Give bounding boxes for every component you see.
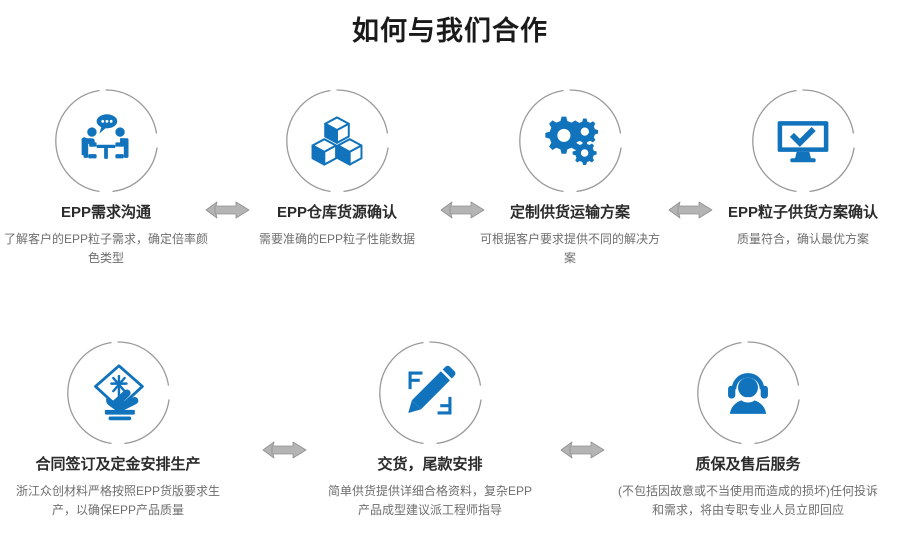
step-title: EPP仓库货源确认 — [237, 203, 437, 223]
step-4-circle — [750, 88, 856, 194]
step-description: 质量符合，确认最优方案 — [706, 230, 900, 249]
hand-contract-sign-icon — [87, 362, 149, 424]
step-title: EPP需求沟通 — [2, 203, 210, 223]
monitor-check-icon — [772, 110, 834, 172]
step-5-circle — [65, 340, 171, 446]
step-title: 质保及售后服务 — [613, 455, 883, 475]
step-description: 需要准确的EPP粒子性能数据 — [237, 230, 437, 249]
step-7-circle — [695, 340, 801, 446]
arrow-right-icon-4 — [260, 437, 310, 463]
step-description: 浙江众创材料严格按照EPP货版要求生产，以确保EPP产品质量 — [15, 482, 221, 520]
cooperation-flow-diagram: 如何与我们合作 — [0, 0, 900, 538]
cubes-boxes-icon — [306, 110, 368, 172]
arrow-right-icon-5 — [558, 437, 608, 463]
step-description: 简单供货提供详细合格资料，复杂EPP产品成型建议派工程师指导 — [325, 482, 535, 520]
step-description: 了解客户的EPP粒子需求，确定倍率颜色类型 — [2, 230, 210, 268]
headset-support-icon — [717, 362, 779, 424]
step-title: 交货，尾款安排 — [325, 455, 535, 475]
people-meeting-icon — [75, 110, 137, 172]
step-6-circle — [377, 340, 483, 446]
step-title: EPP粒子供货方案确认 — [706, 203, 900, 223]
step-card-1: EPP需求沟通 了解客户的EPP粒子需求，确定倍率颜色类型 — [2, 88, 210, 268]
step-2-circle — [284, 88, 390, 194]
step-card-2: EPP仓库货源确认 需要准确的EPP粒子性能数据 — [237, 88, 437, 249]
step-card-5: 合同签订及定金安排生产 浙江众创材料严格按照EPP货版要求生产，以确保EPP产品… — [15, 340, 221, 520]
step-title: 定制供货运输方案 — [477, 203, 663, 223]
step-3-circle — [517, 88, 623, 194]
page-title: 如何与我们合作 — [0, 14, 900, 48]
step-card-4: EPP粒子供货方案确认 质量符合，确认最优方案 — [706, 88, 900, 249]
gears-icon — [539, 110, 601, 172]
step-description: 可根据客户要求提供不同的解决方案 — [477, 230, 663, 268]
step-title: 合同签订及定金安排生产 — [15, 455, 221, 475]
step-description: (不包括因故意或不当使用而造成的损坏)任何投诉和需求，将由专职专业人员立即回应 — [613, 482, 883, 520]
step-card-7: 质保及售后服务 (不包括因故意或不当使用而造成的损坏)任何投诉和需求，将由专职专… — [613, 340, 883, 520]
step-1-circle — [53, 88, 159, 194]
step-card-6: 交货，尾款安排 简单供货提供详细合格资料，复杂EPP产品成型建议派工程师指导 — [325, 340, 535, 520]
step-card-3: 定制供货运输方案 可根据客户要求提供不同的解决方案 — [477, 88, 663, 268]
pen-ruler-design-icon — [399, 362, 461, 424]
